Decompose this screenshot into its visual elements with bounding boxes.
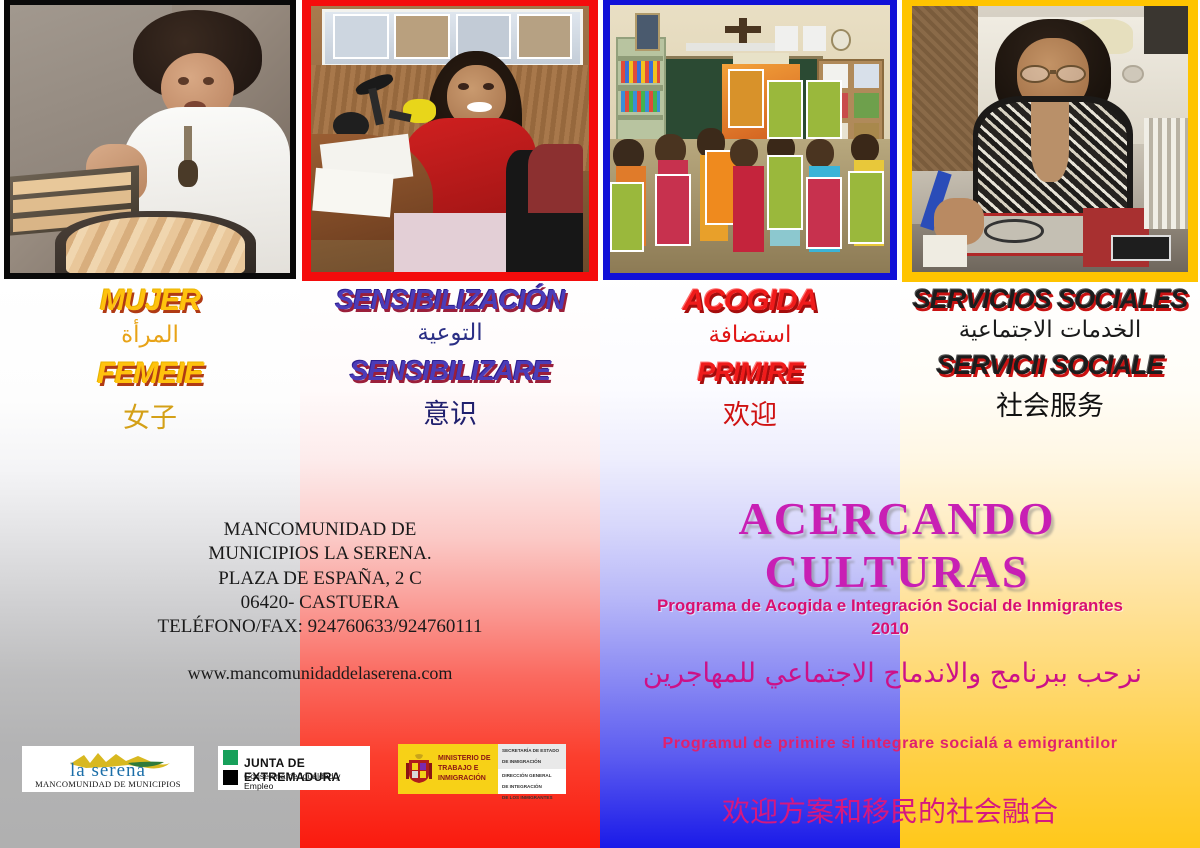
heading-zh-servicios-sociales: 社会服务 (900, 393, 1200, 420)
photo-cell-mujer (0, 0, 300, 278)
ministerio-white-panel: SECRETARÍA DE ESTADO DE INMIGRACIÓN Y EM… (498, 744, 566, 794)
direccion-line-1: DIRECCIÓN GENERAL (498, 769, 566, 780)
website-url[interactable]: www.mancomunidaddelaserena.com (100, 662, 540, 685)
subtitle-romanian: Programul de primire si integrare social… (600, 735, 1180, 753)
contact-address-block: MANCOMUNIDAD DE MUNICIPIOS LA SERENA. PL… (100, 518, 540, 685)
heading-group-mujer: MUJER المرأة FEMEIE 女子 (0, 286, 300, 466)
address-line-3: PLAZA DE ESPAÑA, 2 C (100, 567, 540, 591)
logo-ministerio-de-trabajo-e-inmigracion: MINISTERIO DE TRABAJO E INMIGRACIÓN SECR… (398, 744, 566, 794)
ministerio-yellow-panel: MINISTERIO DE TRABAJO E INMIGRACIÓN (398, 744, 498, 794)
heading-ar-acogida: استضافة (600, 324, 900, 347)
heading-es-servicios-sociales: SERVICIOS SOCIALES (900, 286, 1200, 313)
heading-ro-servicios-sociales: SERVICII SOCIALE (900, 352, 1200, 379)
direccion-general-block: DIRECCIÓN GENERAL DE INTEGRACIÓN DE LOS … (498, 769, 566, 794)
poster-main-title: ACERCANDO CULTURAS (612, 492, 1182, 598)
heading-group-servicios-sociales: SERVICIOS SOCIALES الخدمات الاجتماعية SE… (900, 286, 1200, 466)
heading-zh-acogida: 欢迎 (600, 402, 900, 429)
secretaria-line-1: SECRETARÍA DE ESTADO (498, 744, 566, 755)
heading-ar-sensibilizacion: التوعية (300, 322, 600, 345)
heading-es-acogida: ACOGIDA (600, 286, 900, 316)
heading-ar-servicios-sociales: الخدمات الاجتماعية (900, 319, 1200, 342)
heading-ro-acogida: PRIMIRE (600, 359, 900, 386)
direccion-line-2: DE INTEGRACIÓN (498, 780, 566, 791)
heading-es-sensibilizacion: SENSIBILIZACIÓN (300, 286, 600, 314)
serena-subtitle: MANCOMUNIDAD DE MUNICIPIOS (26, 779, 190, 789)
address-line-1: MANCOMUNIDAD DE (100, 518, 540, 542)
subtitle-line-1: Programa de Acogida e Integración Social… (600, 595, 1180, 618)
junta-subtitle: Consejeria de Igualdad y Empleo (244, 771, 370, 791)
junta-green-square-icon (223, 750, 238, 765)
logo-junta-de-extremadura: JUNTA DE EXTREMADURA Consejeria de Igual… (218, 746, 370, 790)
photo-woman-baking-pastries (4, 0, 296, 279)
address-line-4: 06420- CASTUERA (100, 591, 540, 615)
photo-cell-servicios-sociales (900, 0, 1200, 278)
heading-ro-sensibilizacion: SENSIBILIZARE (300, 357, 600, 385)
photo-cell-sensibilizacion (300, 0, 600, 278)
secretaria-line-2: DE INMIGRACIÓN (498, 755, 566, 766)
photo-strip (0, 0, 1200, 278)
heading-zh-mujer: 女子 (0, 405, 300, 432)
spanish-coat-of-arms-icon (406, 754, 432, 784)
photo-woman-writing-at-desk (902, 0, 1198, 282)
photo-cell-acogida (600, 0, 900, 278)
junta-black-square-icon (223, 770, 238, 785)
poster-canvas: MUJER المرأة FEMEIE 女子 SENSIBILIZACIÓN ا… (0, 0, 1200, 848)
heading-ro-mujer: FEMEIE (0, 359, 300, 389)
heading-ar-mujer: المرأة (0, 324, 300, 347)
ministerio-line-1: MINISTERIO (438, 755, 479, 762)
photo-schoolchildren-with-bags (603, 0, 897, 280)
subtitle-chinese: 欢迎方案和移民的社会融合 (600, 790, 1180, 830)
secretaria-de-estado-block: SECRETARÍA DE ESTADO DE INMIGRACIÓN Y EM… (498, 744, 566, 769)
address-line-2: MUNICIPIOS LA SERENA. (100, 542, 540, 566)
subtitle-arabic: نرحب ببرنامج والاندماج الاجتماعي للمهاجر… (600, 658, 1185, 689)
poster-subtitle: Programa de Acogida e Integración Social… (600, 595, 1180, 641)
heading-strip: MUJER المرأة FEMEIE 女子 SENSIBILIZACIÓN ا… (0, 286, 1200, 466)
heading-group-sensibilizacion: SENSIBILIZACIÓN التوعية SENSIBILIZARE 意识 (300, 286, 600, 466)
photo-woman-at-radio-microphone (302, 0, 598, 281)
heading-es-mujer: MUJER (0, 286, 300, 316)
direccion-line-3: DE LOS INMIGRANTES (498, 791, 566, 802)
heading-zh-sensibilizacion: 意识 (300, 401, 600, 428)
heading-group-acogida: ACOGIDA استضافة PRIMIRE 欢迎 (600, 286, 900, 466)
ministerio-name: MINISTERIO DE TRABAJO E INMIGRACIÓN (438, 754, 498, 784)
address-phone-fax: TELÉFONO/FAX: 924760633/924760111 (100, 615, 540, 639)
logo-la-serena: la serena MANCOMUNIDAD DE MUNICIPIOS (22, 746, 194, 792)
subtitle-year: 2010 (600, 618, 1180, 641)
